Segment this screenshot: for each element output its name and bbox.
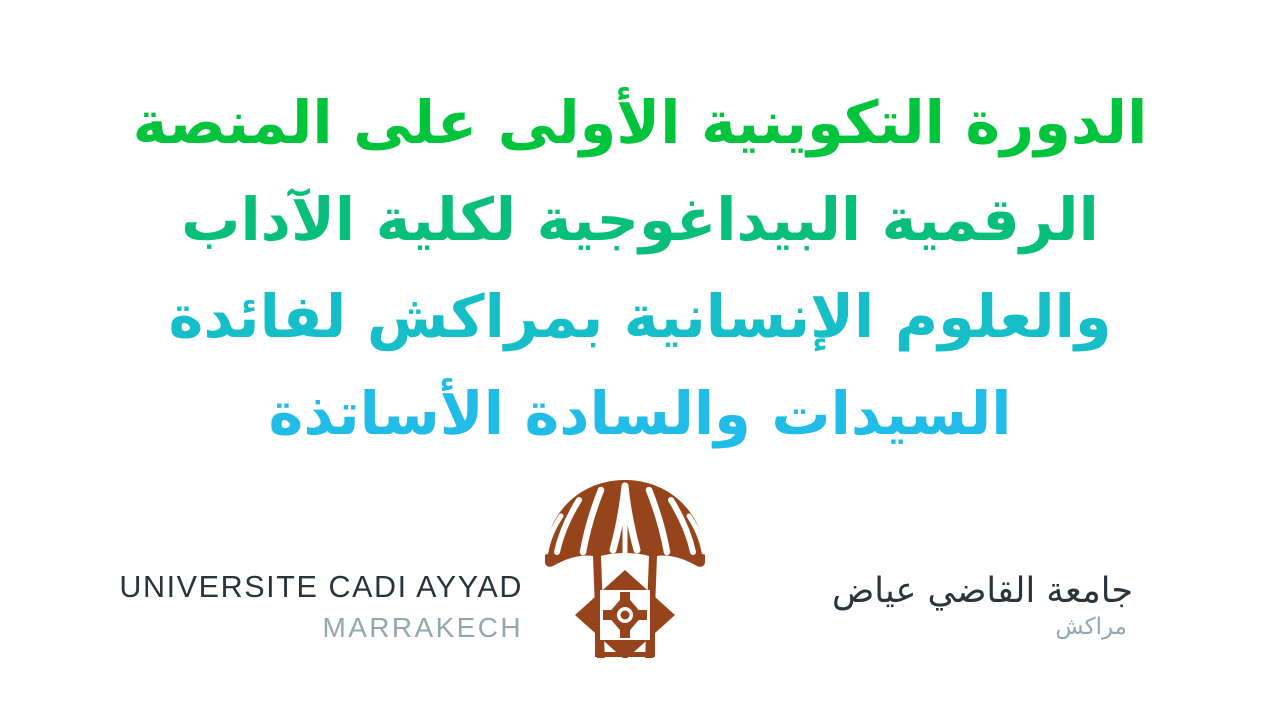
logo-arabic-city-name: مراكش: [1055, 614, 1133, 642]
palm-emblem-icon: [537, 472, 713, 658]
logo-latin-university-name: UNIVERSITE CADI AYYAD: [119, 571, 523, 604]
headline-line-3: والعلوم الإنسانية بمراكش لفائدة: [60, 268, 1220, 365]
logo-latin-city-name: MARRAKECH: [322, 610, 523, 645]
logo-arabic-text: جامعة القاضي عياض مراكش: [713, 488, 1133, 642]
headline-line-4: السيدات والسادة الأساتذة: [60, 365, 1220, 462]
logo-arabic-university-name: جامعة القاضي عياض: [832, 572, 1133, 611]
logo-latin-text: UNIVERSITE CADI AYYAD MARRAKECH: [147, 485, 537, 645]
announcement-slide: الدورة التكوينية الأولى على المنصة الرقم…: [0, 0, 1280, 719]
university-logo: UNIVERSITE CADI AYYAD MARRAKECH: [0, 470, 1280, 660]
headline-line-2: الرقمية البيداغوجية لكلية الآداب: [60, 171, 1220, 268]
announcement-headline: الدورة التكوينية الأولى على المنصة الرقم…: [60, 74, 1220, 462]
headline-line-1: الدورة التكوينية الأولى على المنصة: [60, 74, 1220, 171]
